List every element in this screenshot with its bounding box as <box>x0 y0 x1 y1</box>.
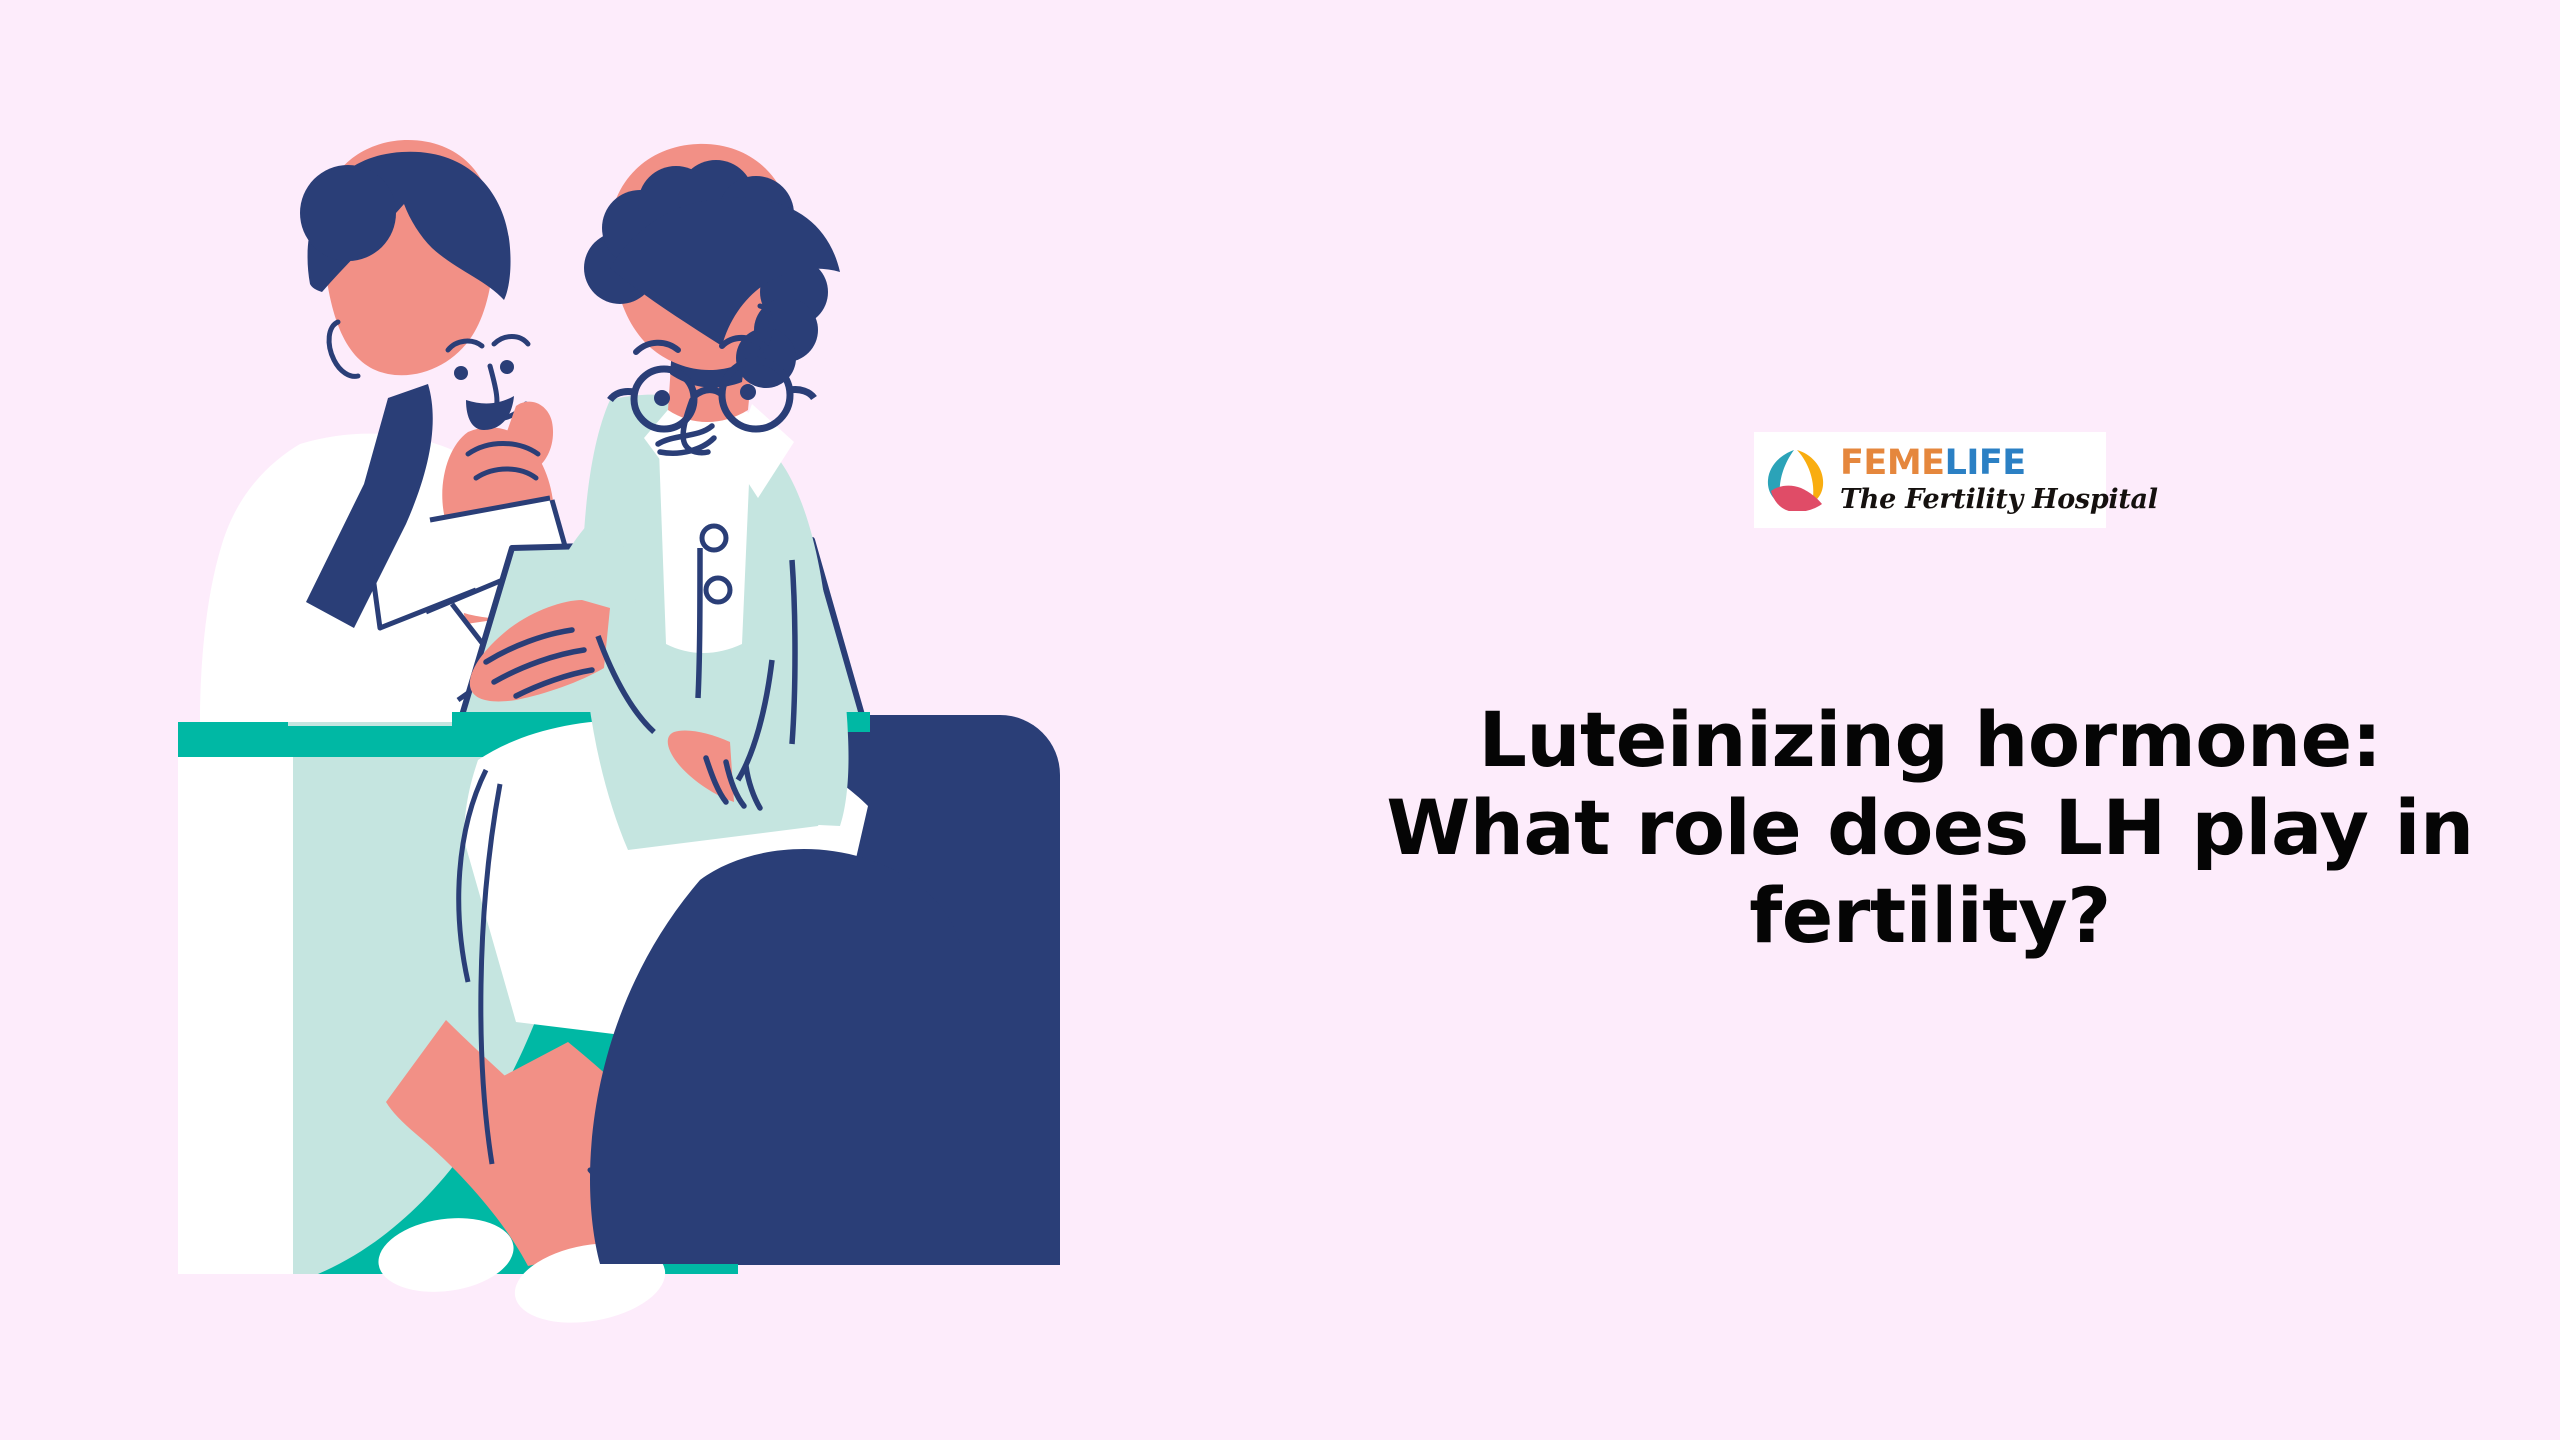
logo-tagline: The Fertility Hospital <box>1840 486 2158 513</box>
headline-line-2: What role does LH play in <box>1330 784 2530 872</box>
femelife-logo-text: FEMELIFE The Fertility Hospital <box>1840 446 2158 513</box>
page-title: Luteinizing hormone: What role does LH p… <box>1300 696 2560 960</box>
logo-brand-part-1: FEME <box>1840 443 1945 483</box>
poster-canvas: FEMELIFE The Fertility Hospital Luteiniz… <box>0 0 2560 1440</box>
femelife-logo-mark-icon <box>1764 447 1828 511</box>
headline-line-3: fertility? <box>1330 872 2530 960</box>
content-panel: FEMELIFE The Fertility Hospital Luteiniz… <box>1300 0 2560 1440</box>
illustration-container <box>0 0 1300 1440</box>
logo-brand-part-2: LIFE <box>1945 443 2026 483</box>
femelife-logo[interactable]: FEMELIFE The Fertility Hospital <box>1754 432 2106 528</box>
headline-line-1: Luteinizing hormone: <box>1330 696 2530 784</box>
